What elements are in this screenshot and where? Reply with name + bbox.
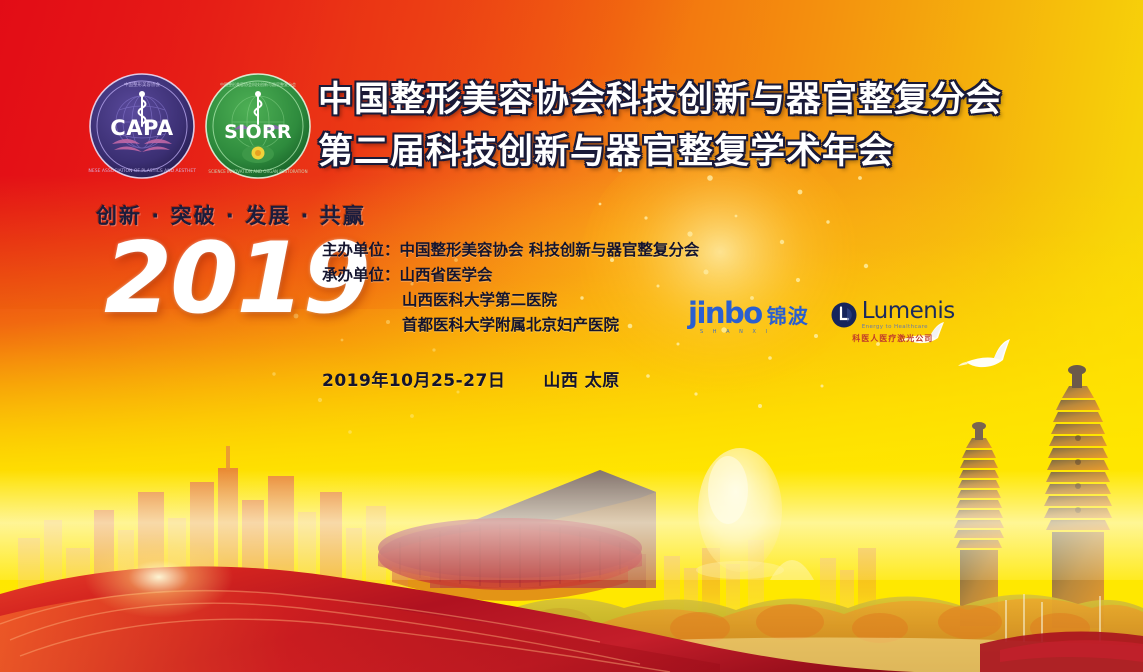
title-line-2: 第二届科技创新与器官整复学术年会 — [318, 130, 1002, 174]
sponsor-lumenis: Lumenis Energy to Healthcare 科医人医疗激光公司 — [831, 300, 955, 344]
lumenis-wordmark: Lumenis — [862, 300, 955, 323]
organizer-value-host: 中国整形美容协会 科技创新与器官整复分会 — [400, 241, 700, 259]
siorr-logo: SIORR 中国整形美容协会科技创新与器官整复分会 SCIENCE INNOVA… — [204, 72, 312, 180]
organizer-line: 承办单位：山西省医学会 — [322, 263, 699, 288]
svg-text:CAPA: CAPA — [110, 116, 174, 140]
organizer-line: 主办单位：中国整形美容协会 科技创新与器官整复分会 — [322, 238, 699, 263]
organizer-label-host: 主办单位： — [322, 241, 400, 259]
organizer-value-coorg-2: 山西医科大学第二医院 — [402, 291, 557, 309]
svg-text:SCIENCE INNOVATION AND ORGAN R: SCIENCE INNOVATION AND ORGAN RESTORATION — [208, 169, 307, 174]
capa-logo: CAPA 中国整形美容协会 CHINESE ASSOCIATION OF PLA… — [88, 72, 196, 180]
red-silk-ribbon — [0, 532, 1143, 672]
sponsor-jinbo: jinbo 锦波 S H A N X I — [688, 300, 809, 335]
dove-icon — [958, 336, 1020, 374]
lumenis-tagline: Energy to Healthcare — [862, 324, 955, 330]
sponsor-logos: jinbo 锦波 S H A N X I Lumenis Energy to H… — [688, 300, 955, 344]
svg-text:SIORR: SIORR — [224, 121, 292, 143]
lumenis-mark-icon — [831, 302, 857, 328]
association-logos: CAPA 中国整形美容协会 CHINESE ASSOCIATION OF PLA… — [88, 72, 312, 180]
organizer-line: 山西医科大学第二医院 — [322, 288, 699, 313]
jinbo-subtitle: S H A N X I — [688, 329, 809, 335]
conference-banner: CAPA 中国整形美容协会 CHINESE ASSOCIATION OF PLA… — [0, 0, 1143, 672]
title-line-1: 中国整形美容协会科技创新与器官整复分会 — [318, 78, 1002, 122]
organizer-value-coorg-3: 首都医科大学附属北京妇产医院 — [402, 316, 619, 334]
jinbo-wordmark: jinbo — [688, 300, 762, 327]
jinbo-chinese-name: 锦波 — [767, 305, 809, 327]
svg-text:中国整形美容协会: 中国整形美容协会 — [124, 81, 160, 88]
conference-date: 2019年10月25-27日 — [322, 371, 505, 391]
organizer-value-coorg-1: 山西省医学会 — [400, 266, 493, 284]
svg-text:CHINESE ASSOCIATION OF PLASTIC: CHINESE ASSOCIATION OF PLASTICS AND AEST… — [88, 168, 196, 174]
date-venue-line: 2019年10月25-27日山西 太原 — [322, 366, 620, 391]
organizer-line: 首都医科大学附属北京妇产医院 — [322, 313, 699, 338]
conference-title: 中国整形美容协会科技创新与器官整复分会 第二届科技创新与器官整复学术年会 — [318, 78, 1002, 174]
conference-venue: 山西 太原 — [543, 371, 619, 391]
organizer-info: 主办单位：中国整形美容协会 科技创新与器官整复分会 承办单位：山西省医学会 山西… — [322, 238, 699, 338]
svg-text:中国整形美容协会科技创新与器官整复分会: 中国整形美容协会科技创新与器官整复分会 — [220, 81, 296, 87]
organizer-label-coorg: 承办单位： — [322, 266, 400, 284]
lumenis-chinese-name: 科医人医疗激光公司 — [831, 333, 955, 344]
